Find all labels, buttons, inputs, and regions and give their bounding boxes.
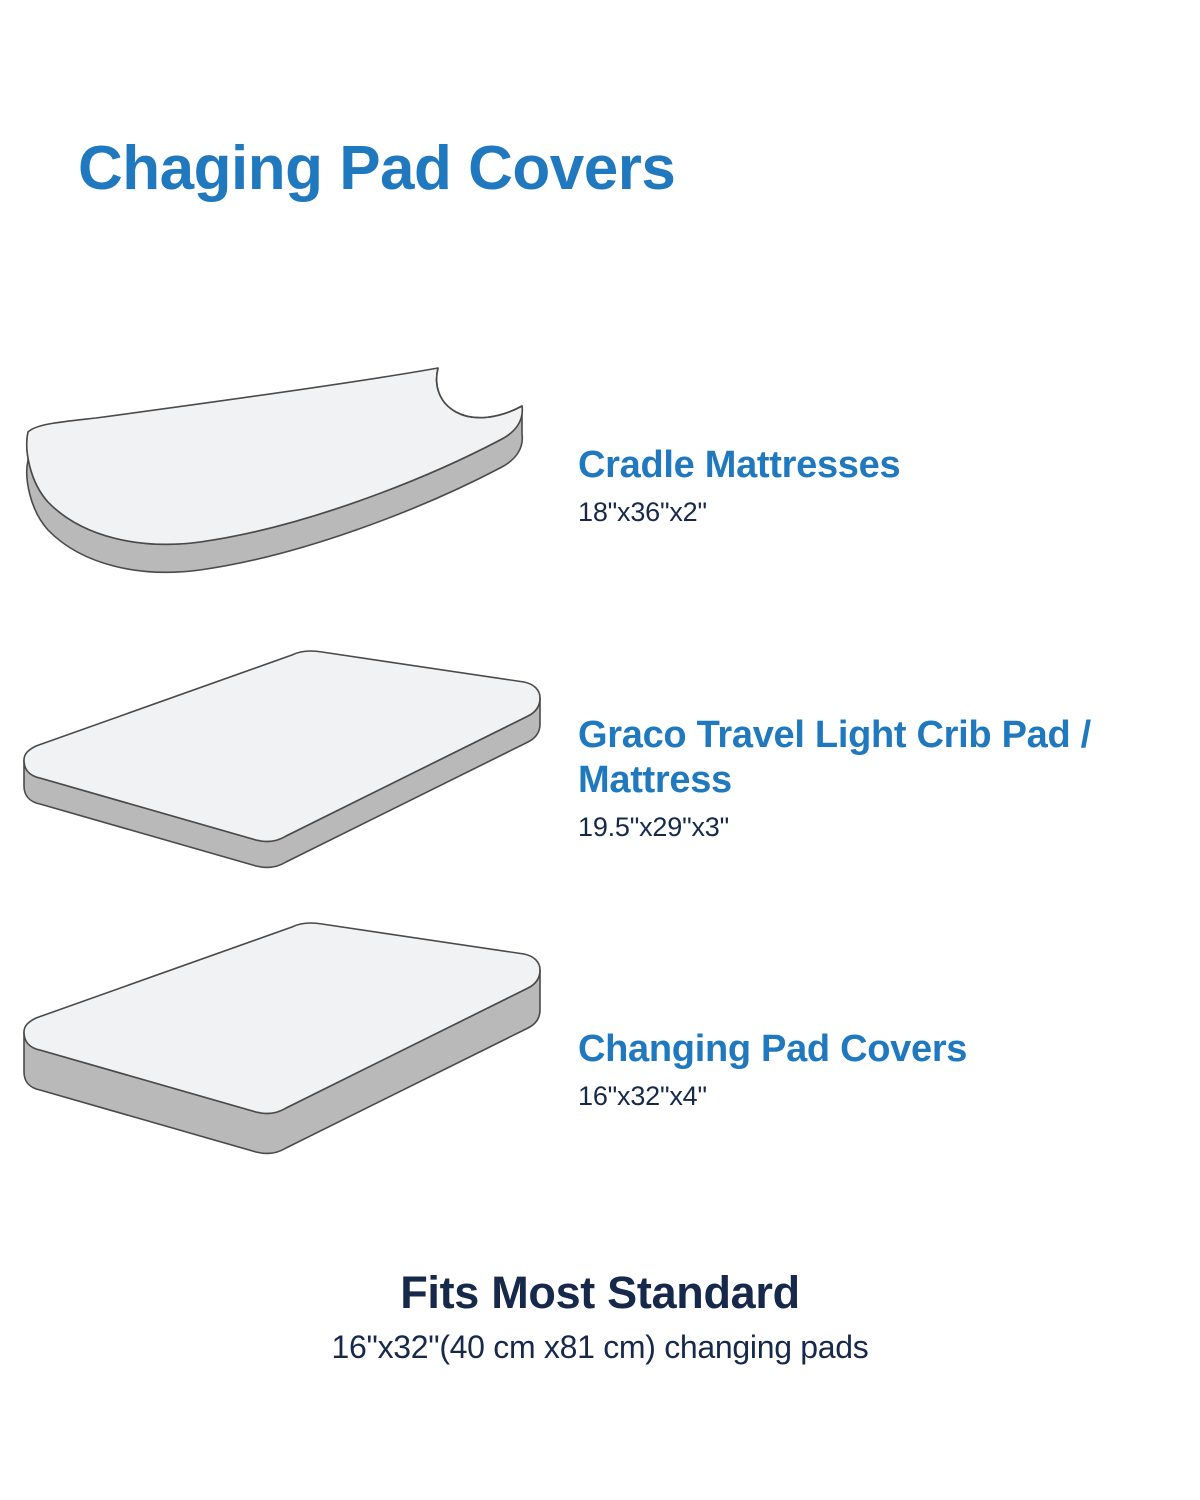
infographic-page: Chaging Pad Covers Cradle Mattresses 18"…	[0, 0, 1200, 1500]
product-name: Graco Travel Light Crib Pad / Mattress	[578, 713, 1180, 803]
footer-title: Fits Most Standard	[0, 1268, 1200, 1318]
product-dimensions: 19.5"x29"x3"	[578, 811, 1180, 843]
list-item: Cradle Mattresses 18"x36"x2"	[0, 360, 1200, 640]
product-name: Cradle Mattresses	[578, 443, 1180, 488]
flat-mattress-thick-illustration	[0, 920, 560, 1200]
product-text-block: Cradle Mattresses 18"x36"x2"	[560, 443, 1200, 528]
contoured-changing-pad-illustration	[0, 360, 560, 640]
product-list: Cradle Mattresses 18"x36"x2" Graco Trave…	[0, 360, 1200, 1200]
page-title: Chaging Pad Covers	[78, 138, 675, 200]
list-item: Changing Pad Covers 16"x32"x4"	[0, 920, 1200, 1200]
flat-mattress-thin-illustration	[0, 640, 560, 920]
product-name: Changing Pad Covers	[578, 1027, 1180, 1072]
product-text-block: Graco Travel Light Crib Pad / Mattress 1…	[560, 713, 1200, 843]
product-dimensions: 18"x36"x2"	[578, 496, 1180, 528]
footer-subtitle: 16"x32"(40 cm x81 cm) changing pads	[0, 1328, 1200, 1366]
product-text-block: Changing Pad Covers 16"x32"x4"	[560, 1027, 1200, 1112]
footer: Fits Most Standard 16"x32"(40 cm x81 cm)…	[0, 1268, 1200, 1366]
list-item: Graco Travel Light Crib Pad / Mattress 1…	[0, 640, 1200, 920]
product-dimensions: 16"x32"x4"	[578, 1080, 1180, 1112]
